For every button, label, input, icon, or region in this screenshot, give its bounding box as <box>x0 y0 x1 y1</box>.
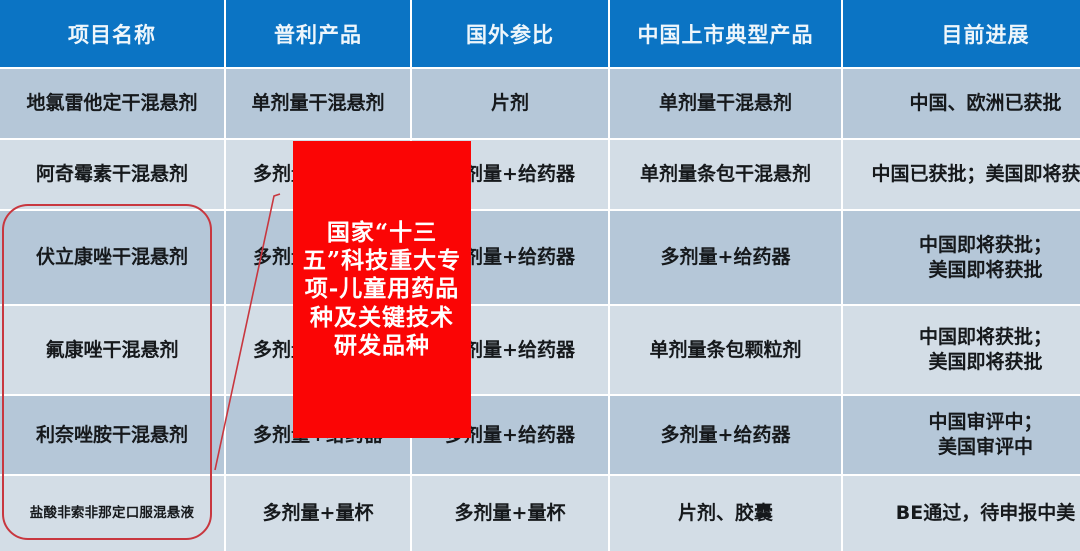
progress-line-1: 中国即将获批； <box>847 233 1080 258</box>
progress-line-1: 中国已获批；美国即将获批 <box>847 162 1080 187</box>
column-header-overseas-reference: 国外参比 <box>411 0 609 68</box>
table-row: 盐酸非索非那定口服混悬液 多剂量+量杯 多剂量+量杯 片剂、胶囊 BE通过，待申… <box>0 475 1080 551</box>
callout-text: 国家“十三五”科技重大专项-儿童用药品种及关键技术研发品种 <box>301 219 463 359</box>
column-header-project-name: 项目名称 <box>0 0 225 68</box>
column-header-china-typical-product: 中国上市典型产品 <box>609 0 842 68</box>
table-row: 氟康唑干混悬剂 多剂量+给药器 多剂量+给药器 单剂量条包颗粒剂 中国即将获批；… <box>0 305 1080 395</box>
progress-line-1: 中国、欧洲已获批 <box>847 91 1080 116</box>
table-row: 伏立康唑干混悬剂 多剂量+给药器 多剂量+给药器 多剂量+给药器 中国即将获批；… <box>0 210 1080 305</box>
cell-puli-product: 单剂量干混悬剂 <box>225 68 411 139</box>
cell-project-name: 利奈唑胺干混悬剂 <box>0 395 225 475</box>
table-row: 利奈唑胺干混悬剂 多剂量+给药器 多剂量+给药器 多剂量+给药器 中国审评中； … <box>0 395 1080 475</box>
cell-current-progress: BE通过，待申报中美 <box>842 475 1080 551</box>
table-row: 阿奇霉素干混悬剂 多剂量+给药器 多剂量+给药器 单剂量条包干混悬剂 中国已获批… <box>0 139 1080 210</box>
cell-current-progress: 中国即将获批； 美国即将获批 <box>842 305 1080 395</box>
cell-china-typical-product: 单剂量条包颗粒剂 <box>609 305 842 395</box>
slide-root: 项目名称 普利产品 国外参比 中国上市典型产品 目前进展 地氯雷他定干混悬剂 单… <box>0 0 1080 546</box>
progress-line-2: 美国即将获批 <box>847 258 1080 283</box>
cell-puli-product: 多剂量+量杯 <box>225 475 411 551</box>
cell-current-progress: 中国审评中； 美国审评中 <box>842 395 1080 475</box>
progress-line-1: 中国即将获批； <box>847 325 1080 350</box>
cell-china-typical-product: 单剂量条包干混悬剂 <box>609 139 842 210</box>
red-callout-box: 国家“十三五”科技重大专项-儿童用药品种及关键技术研发品种 <box>293 141 471 438</box>
cell-project-name: 盐酸非索非那定口服混悬液 <box>0 475 225 551</box>
cell-project-name: 氟康唑干混悬剂 <box>0 305 225 395</box>
cell-current-progress: 中国即将获批； 美国即将获批 <box>842 210 1080 305</box>
cell-overseas-reference: 多剂量+量杯 <box>411 475 609 551</box>
project-status-table: 项目名称 普利产品 国外参比 中国上市典型产品 目前进展 地氯雷他定干混悬剂 单… <box>0 0 1080 551</box>
table-body: 地氯雷他定干混悬剂 单剂量干混悬剂 片剂 单剂量干混悬剂 中国、欧洲已获批 阿奇… <box>0 68 1080 551</box>
progress-line-1: BE通过，待申报中美 <box>847 501 1080 526</box>
table-header: 项目名称 普利产品 国外参比 中国上市典型产品 目前进展 <box>0 0 1080 68</box>
progress-line-2: 美国审评中 <box>847 435 1080 460</box>
progress-line-2: 美国即将获批 <box>847 350 1080 375</box>
cell-current-progress: 中国、欧洲已获批 <box>842 68 1080 139</box>
cell-current-progress: 中国已获批；美国即将获批 <box>842 139 1080 210</box>
progress-line-1: 中国审评中； <box>847 410 1080 435</box>
cell-project-name: 阿奇霉素干混悬剂 <box>0 139 225 210</box>
cell-overseas-reference: 片剂 <box>411 68 609 139</box>
cell-china-typical-product: 多剂量+给药器 <box>609 395 842 475</box>
cell-china-typical-product: 单剂量干混悬剂 <box>609 68 842 139</box>
header-row: 项目名称 普利产品 国外参比 中国上市典型产品 目前进展 <box>0 0 1080 68</box>
cell-project-name: 地氯雷他定干混悬剂 <box>0 68 225 139</box>
cell-china-typical-product: 片剂、胶囊 <box>609 475 842 551</box>
cell-project-name: 伏立康唑干混悬剂 <box>0 210 225 305</box>
cell-china-typical-product: 多剂量+给药器 <box>609 210 842 305</box>
table-row: 地氯雷他定干混悬剂 单剂量干混悬剂 片剂 单剂量干混悬剂 中国、欧洲已获批 <box>0 68 1080 139</box>
column-header-puli-product: 普利产品 <box>225 0 411 68</box>
column-header-current-progress: 目前进展 <box>842 0 1080 68</box>
